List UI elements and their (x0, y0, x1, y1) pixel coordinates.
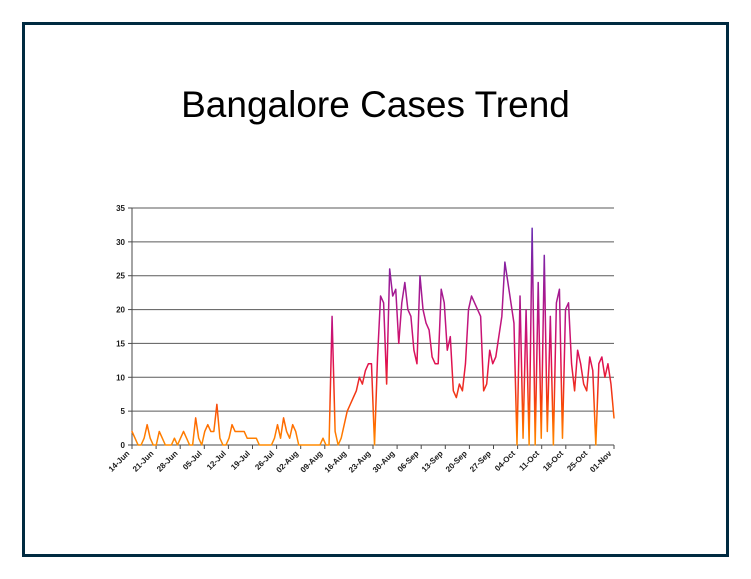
y-tick-label: 35 (116, 204, 125, 213)
x-tick-label: 19-Jul (229, 449, 252, 472)
x-tick-label: 04-Oct (493, 449, 517, 473)
y-tick-label: 5 (121, 407, 126, 416)
chart-svg: 05101520253035 14-Jun21-Jun28-Jun05-Jul1… (108, 195, 628, 505)
slide-canvas: Bangalore Cases Trend 05101520253035 14-… (0, 0, 751, 579)
x-tick-label: 13-Sep (420, 449, 445, 474)
x-tick-label: 30-Aug (371, 449, 397, 475)
y-axis-ticks: 05101520253035 (116, 204, 132, 450)
line-chart: 05101520253035 14-Jun21-Jun28-Jun05-Jul1… (108, 195, 628, 505)
page-title: Bangalore Cases Trend (0, 83, 751, 127)
y-tick-label: 10 (116, 373, 125, 382)
x-tick-label: 28-Jun (155, 449, 180, 474)
y-tick-label: 15 (116, 339, 125, 348)
x-tick-label: 01-Nov (588, 449, 614, 475)
x-tick-label: 20-Sep (444, 449, 469, 474)
x-axis-ticks: 14-Jun21-Jun28-Jun05-Jul12-Jul19-Jul26-J… (108, 445, 614, 475)
x-tick-label: 06-Sep (396, 449, 421, 474)
x-tick-label: 05-Jul (181, 449, 204, 472)
x-tick-label: 09-Aug (299, 449, 325, 475)
x-tick-label: 23-Aug (347, 449, 373, 475)
y-tick-label: 20 (116, 306, 125, 315)
x-tick-label: 27-Sep (468, 449, 493, 474)
y-tick-label: 25 (116, 272, 125, 281)
series-line-bangalore-cases (132, 228, 614, 445)
x-tick-label: 14-Jun (108, 449, 131, 474)
x-tick-label: 11-Oct (517, 449, 541, 473)
x-tick-label: 12-Jul (205, 449, 228, 472)
x-tick-label: 25-Oct (565, 449, 589, 473)
x-tick-label: 16-Aug (323, 449, 349, 475)
x-tick-label: 21-Jun (131, 449, 156, 474)
x-tick-label: 02-Aug (275, 449, 301, 475)
x-tick-label: 26-Jul (253, 449, 276, 472)
y-tick-label: 0 (121, 441, 126, 450)
x-tick-label: 18-Oct (541, 449, 565, 473)
y-tick-label: 30 (116, 238, 125, 247)
